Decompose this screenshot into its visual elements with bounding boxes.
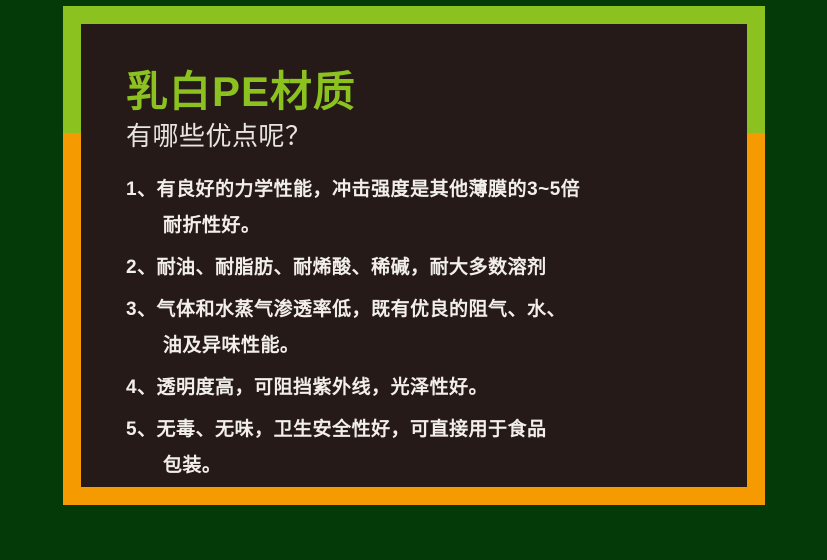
list-item-line: 4、透明度高，可阻挡紫外线，光泽性好。: [126, 370, 727, 406]
frame-border-top-green: [63, 6, 765, 24]
list-item-line: 2、耐油、耐脂肪、耐烯酸、稀碱，耐大多数溶剂: [126, 250, 727, 286]
frame-border-right-orange: [747, 133, 765, 505]
list-item-line: 包装。: [126, 448, 727, 484]
frame-border-bottom-orange: [63, 487, 765, 505]
content-panel: 乳白PE材质 有哪些优点呢？ 1、有良好的力学性能，冲击强度是其他薄膜的3~5倍…: [81, 24, 747, 487]
list-item: 2、耐油、耐脂肪、耐烯酸、稀碱，耐大多数溶剂: [126, 250, 727, 286]
list-item: 4、透明度高，可阻挡紫外线，光泽性好。: [126, 370, 727, 406]
decorative-frame: 乳白PE材质 有哪些优点呢？ 1、有良好的力学性能，冲击强度是其他薄膜的3~5倍…: [63, 6, 765, 505]
frame-border-left-green: [63, 6, 81, 133]
list-item-line: 1、有良好的力学性能，冲击强度是其他薄膜的3~5倍: [126, 172, 727, 208]
list-item-line: 3、气体和水蒸气渗透率低，既有优良的阻气、水、: [126, 292, 727, 328]
frame-border-left-orange: [63, 133, 81, 505]
list-item: 3、气体和水蒸气渗透率低，既有优良的阻气、水、 油及异味性能。: [126, 292, 727, 364]
list-item: 5、无毒、无味，卫生安全性好，可直接用于食品 包装。: [126, 412, 727, 484]
advantages-list: 1、有良好的力学性能，冲击强度是其他薄膜的3~5倍 耐折性好。 2、耐油、耐脂肪…: [126, 172, 727, 487]
page-subtitle: 有哪些优点呢？: [126, 120, 312, 152]
list-item-line: 耐折性好。: [126, 208, 727, 244]
frame-border-right-green: [747, 6, 765, 133]
list-item-line: 5、无毒、无味，卫生安全性好，可直接用于食品: [126, 412, 727, 448]
list-item-line: 油及异味性能。: [126, 328, 727, 364]
page-title: 乳白PE材质: [126, 68, 356, 116]
list-item: 1、有良好的力学性能，冲击强度是其他薄膜的3~5倍 耐折性好。: [126, 172, 727, 244]
